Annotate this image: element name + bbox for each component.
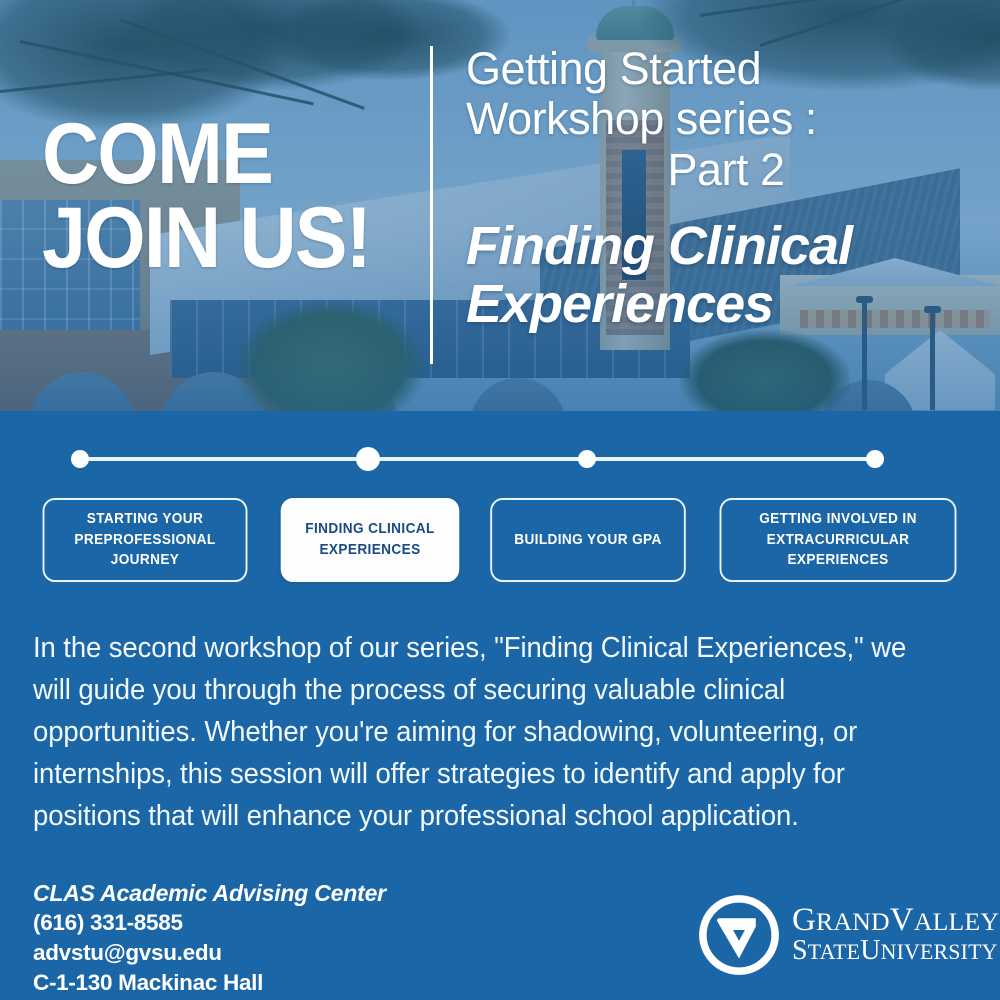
contact-location: C-1-130 Mackinac Hall <box>33 968 386 998</box>
workshop-title-line1: Finding Clinical <box>466 217 986 275</box>
step-pill-building-your-gpa[interactable]: BUILDING YOUR GPA <box>490 498 686 582</box>
hero-headline: COME JOIN US! <box>42 112 382 281</box>
hero-headline-line2: JOIN US! <box>42 196 382 280</box>
workshop-title: Finding Clinical Experiences <box>466 217 986 334</box>
step-pill-starting-your-preprofessional-journey[interactable]: STARTING YOUR PREPROFESSIONAL JOURNEY <box>43 498 248 582</box>
contact-organization: CLAS Academic Advising Center <box>33 878 386 908</box>
hero-vertical-divider <box>430 46 433 364</box>
timeline-dot-4 <box>866 450 884 468</box>
workshop-step-list: STARTING YOUR PREPROFESSIONAL JOURNEY FI… <box>0 498 1000 582</box>
description-paragraph: In the second workshop of our series, "F… <box>33 628 930 837</box>
contact-email[interactable]: advstu@gvsu.edu <box>33 938 386 968</box>
gvsu-wordmark: GRANDVALLEY STATEUNIVERSITY <box>792 905 999 965</box>
workshop-title-line2: Experiences <box>466 275 986 333</box>
timeline-dot-1 <box>71 450 89 468</box>
gvsu-wordmark-line2: STATEUNIVERSITY <box>792 937 999 965</box>
series-line-3: Part 2 <box>466 145 986 195</box>
gvsu-wordmark-line1: GRANDVALLEY <box>792 905 999 937</box>
contact-block: CLAS Academic Advising Center (616) 331-… <box>33 878 386 997</box>
timeline-track <box>80 457 875 461</box>
poster-canvas: COME JOIN US! Getting Started Workshop s… <box>0 0 1000 1000</box>
hero-banner: COME JOIN US! Getting Started Workshop s… <box>0 0 1000 411</box>
step-pill-getting-involved-in-extracurricular-experiences[interactable]: GETTING INVOLVED IN EXTRACURRICULAR EXPE… <box>720 498 957 582</box>
timeline-dot-2-active <box>356 447 380 471</box>
series-line-2: Workshop series : <box>466 94 986 144</box>
hero-headline-line1: COME <box>42 106 272 202</box>
workshop-timeline <box>0 440 1000 480</box>
gvsu-logo: GRANDVALLEY STATEUNIVERSITY <box>697 893 999 977</box>
gvsu-laurel-g-icon <box>697 893 781 977</box>
step-pill-finding-clinical-experiences[interactable]: FINDING CLINICAL EXPERIENCES <box>281 498 460 582</box>
timeline-dot-3 <box>578 450 596 468</box>
contact-phone[interactable]: (616) 331-8585 <box>33 908 386 938</box>
hero-title-block: Getting Started Workshop series : Part 2… <box>466 44 986 334</box>
series-line-1: Getting Started <box>466 44 986 94</box>
